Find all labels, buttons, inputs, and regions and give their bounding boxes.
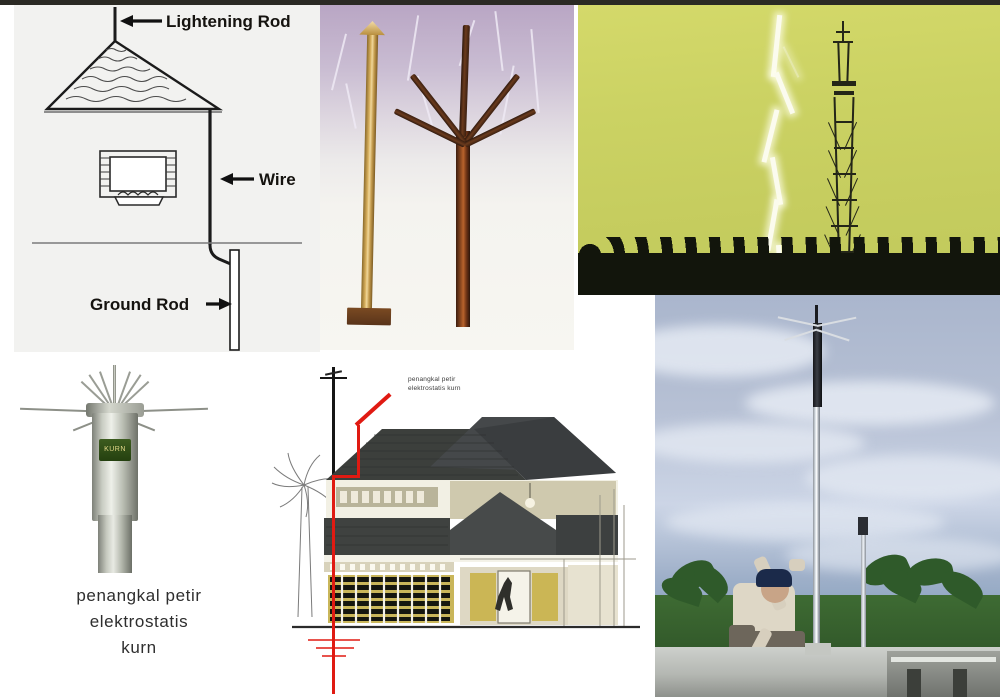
down-conductor-vertical [332, 476, 335, 694]
window-wall-glass [328, 575, 454, 623]
worker-cap [756, 569, 792, 587]
window-group [100, 151, 176, 205]
panel-copper-lightning-rods [320, 5, 574, 350]
head-radial-arm [778, 317, 817, 327]
mast-base-plate [805, 643, 831, 655]
secondary-pole [861, 525, 866, 665]
pendant-lamp [525, 498, 535, 508]
air-terminal-head: KURN [14, 355, 264, 575]
parapet-edge [891, 657, 996, 662]
brand-label: KURN [99, 439, 131, 461]
ground-rod [230, 250, 239, 350]
label-lightening-rod: Lightening Rod [166, 12, 291, 31]
parapet-gap [907, 669, 921, 697]
panel-rooftop-installation [655, 295, 1000, 697]
down-conductor-step-top [332, 475, 360, 478]
side-glass-left [470, 573, 496, 621]
diagram-svg: Lightening Rod Wire Ground Rod [14, 5, 320, 352]
panel-lightning-protection-diagram: Lightening Rod Wire Ground Rod [14, 5, 320, 352]
panel-lightning-strike-tower [578, 5, 1000, 295]
caption-line-1: penangkal petir [14, 583, 264, 609]
down-conductor-upper [357, 425, 360, 478]
mast-tip [815, 305, 818, 325]
caption-line-3: kurn [14, 635, 264, 661]
bolt-streak [407, 15, 419, 81]
image-collage: Lightening Rod Wire Ground Rod [0, 0, 1000, 697]
tree-line-silhouette [578, 253, 1000, 295]
cloud [745, 381, 995, 425]
lightning-bolt-segment [774, 72, 795, 115]
worker-hand [789, 559, 805, 571]
cloud [665, 503, 945, 541]
house-elevation-svg [264, 355, 654, 697]
parapet-gap [953, 669, 967, 697]
earthing-bar-1 [308, 639, 360, 641]
lightning-bolt-segment [770, 157, 783, 205]
lightning-bolt-segment [762, 109, 780, 163]
head-radial-arm [817, 317, 856, 327]
cloud [805, 455, 1000, 501]
terminal-stem [98, 515, 132, 573]
panel-caption: penangkal petir elektrostatis kurn [14, 583, 264, 661]
bolt-streak [494, 11, 503, 71]
lower-roof-right [556, 515, 618, 555]
copper-multipoint-rod [456, 131, 470, 327]
earthing-bar-3 [322, 655, 346, 657]
lower-roof-left [324, 518, 450, 555]
side-glass-right [532, 573, 558, 621]
right-wing-wall [568, 565, 618, 625]
rod-spike-center [459, 25, 470, 137]
bolt-streak [345, 83, 357, 128]
electrostatic-head-black [813, 323, 822, 407]
cloud [655, 423, 865, 463]
lightning-bolt-segment [771, 15, 782, 77]
bolt-streak [331, 34, 347, 91]
label-wire: Wire [259, 170, 296, 189]
cloud [655, 325, 825, 377]
secondary-pole-cap [858, 517, 868, 535]
bolt-streak [530, 29, 539, 113]
caption-line-2: elektrostatis [14, 609, 264, 635]
panel-electrostatic-air-terminal: KURN penangkal petir elektrostatis kurn [14, 355, 264, 697]
lightning-branch [783, 46, 800, 77]
terminal-body [92, 413, 138, 521]
brass-rod [361, 32, 378, 317]
brass-rod-base-plate [347, 308, 391, 326]
panel-house-elevation: penangkal petir elektrostatis kurn [264, 355, 654, 697]
label-ground-rod: Ground Rod [90, 295, 189, 314]
earthing-bar-2 [316, 647, 354, 649]
